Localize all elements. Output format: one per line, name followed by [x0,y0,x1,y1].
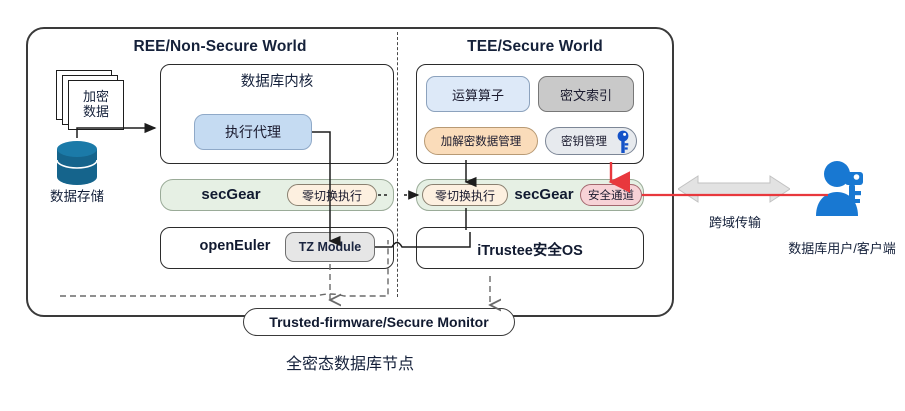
tee-zero-switch-execution-pill: 零切换执行 [422,184,508,206]
cross-domain-transfer-label: 跨域传输 [680,212,790,231]
key-management-label: 密钥管理 [561,133,607,149]
encrypted-data-line-1: 加密 [83,90,109,105]
ree-zero-switch-execution-pill: 零切换执行 [287,184,377,206]
operation-operator-box: 运算算子 [426,76,530,112]
cross-domain-bidirectional-arrow-icon [678,172,790,206]
diagram-canvas: REE/Non-Secure World TEE/Secure World 数据… [0,0,905,411]
diagram-caption: 全密态数据库节点 [180,350,520,374]
tee-world-title: TEE/Secure World [410,38,660,56]
ree-world-title: REE/Non-Secure World [60,38,380,56]
openeuler-label: openEuler [172,238,298,254]
ree-secgear-label: secGear [176,186,286,203]
database-user-client-icon [812,158,874,220]
data-storage-cylinder-icon [56,140,98,186]
execution-agent-box: 执行代理 [194,114,312,150]
database-user-client-label: 数据库用户/客户端 [772,238,905,257]
secure-channel-pill: 安全通道 [580,184,642,206]
encrypted-data-line-2: 数据 [83,105,109,120]
itrustee-secure-os-label: iTrustee安全OS [416,239,644,260]
tee-secgear-label: secGear [508,186,580,203]
data-storage-label: 数据存储 [34,185,120,205]
encrypted-data-sheet-front: 加密 数据 [68,80,124,130]
key-icon [616,130,630,154]
world-divider-dashed-line [397,32,398,297]
ciphertext-index-box: 密文索引 [538,76,634,112]
encrypt-decrypt-data-management-box: 加解密数据管理 [424,127,538,155]
trusted-firmware-secure-monitor-box: Trusted-firmware/Secure Monitor [243,308,515,336]
tz-module-box: TZ Module [285,232,375,262]
key-management-box: 密钥管理 [545,127,637,155]
database-kernel-title: 数据库内核 [160,70,394,91]
